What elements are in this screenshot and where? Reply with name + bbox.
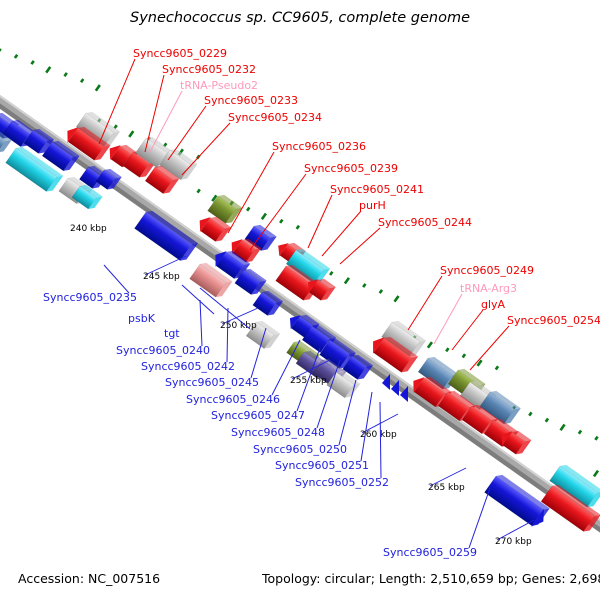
gc-tick [344,277,350,284]
gc-tick [279,219,283,224]
gene-label-reverse[interactable]: Syncc9605_0247 [211,409,305,422]
gene-label-reverse[interactable]: Syncc9605_0246 [186,393,280,406]
gc-tick [445,347,449,352]
gene-label-forward[interactable]: Syncc9605_0249 [440,264,534,277]
label-leader-line [361,392,372,461]
gene-label-forward[interactable]: Syncc9605_0241 [330,183,424,196]
gene-label-layer[interactable]: Syncc9605_0229Syncc9605_0232Syncc9605_02… [43,47,600,559]
gene-label-reverse[interactable]: Syncc9605_0235 [43,291,137,304]
label-leader-line [182,123,230,175]
label-leader-line [168,106,206,160]
label-leader-line [380,402,381,478]
gc-tick [476,359,482,366]
gc-tick [196,189,200,194]
gene-label-forward[interactable]: Syncc9605_0236 [272,140,366,153]
gc-tick [559,424,565,431]
gene-label-forward[interactable]: Syncc9605_0239 [304,162,398,175]
genome-stats-text: Topology: circular; Length: 2,510,659 bp… [261,571,600,586]
gene-label-forward[interactable]: Syncc9605_0244 [378,216,472,229]
gc-tick [528,412,532,417]
gc-tick [45,66,51,73]
label-leader-line [228,152,274,233]
gc-tick [63,72,67,77]
gene-label-reverse[interactable]: tgt [164,327,180,340]
scale-tick-label: 245 kbp [143,272,180,282]
gene-label-reverse[interactable]: Syncc9605_0250 [253,443,347,456]
gc-tick [462,353,466,358]
genome-map-canvas[interactable]: Synechococcus sp. CC9605, complete genom… [0,0,600,600]
gc-tick [545,418,549,423]
gc-tick [427,341,433,348]
scale-tick-label: 270 kbp [495,537,532,547]
label-leader-line [150,91,182,152]
accession-text: Accession: NC_007516 [18,571,160,586]
gene-label-reverse[interactable]: Syncc9605_0251 [275,459,369,472]
gene-label-reverse[interactable]: Syncc9605_0252 [295,476,389,489]
gc-tick [329,271,333,276]
gc-tick [261,213,267,220]
gene-label-forward[interactable]: Syncc9605_0254 [507,314,600,327]
label-leader-line [340,228,380,264]
gc-tick [95,84,101,91]
gene-label-forward[interactable]: glyA [481,298,506,311]
gene-label-rna[interactable]: tRNA-Pseudo2 [180,79,258,92]
gene-label-reverse[interactable]: Syncc9605_0259 [383,546,477,559]
gc-tick [362,283,366,288]
gene-label-reverse[interactable]: Syncc9605_0242 [141,360,235,373]
gene-label-reverse[interactable]: Syncc9605_0245 [165,376,259,389]
label-leader-line [322,211,361,256]
page-title: Synechococcus sp. CC9605, complete genom… [130,10,470,26]
label-leader-line [250,174,306,250]
gc-tick [14,54,18,59]
label-leader-line [104,265,129,293]
gene-label-forward[interactable]: Syncc9605_0229 [133,47,227,60]
gc-tick [30,60,34,65]
gene-label-forward[interactable]: Syncc9605_0233 [204,94,298,107]
gene-label-forward[interactable]: Syncc9605_0232 [162,63,256,76]
scale-tick-label: 240 kbp [70,224,107,234]
gc-tick [594,436,598,441]
gene-label-forward[interactable]: purH [359,199,386,212]
label-leader-line [272,340,300,395]
gc-tick [593,470,599,477]
label-leader-line [227,308,228,362]
gc-tick [495,366,499,371]
gene-label-reverse[interactable]: Syncc9605_0240 [116,344,210,357]
label-leader-line [434,294,462,344]
genome-map-viewer: Synechococcus sp. CC9605, complete genom… [0,0,600,600]
scale-tick-label: 265 kbp [428,483,465,493]
gene-label-reverse[interactable]: Syncc9605_0248 [231,426,325,439]
gc-tick [246,207,250,212]
label-leader-line [308,195,332,248]
gene-label-forward[interactable]: Syncc9605_0234 [228,111,322,124]
gc-tick [296,225,300,230]
gene-label-reverse[interactable]: psbK [128,312,156,325]
label-leader-line [408,276,442,330]
label-leader-line [469,488,490,548]
label-leader-line [470,326,509,370]
label-leader-line [200,300,202,346]
gene-label-rna[interactable]: tRNA-Arg3 [460,282,517,295]
gc-tick [0,48,2,55]
gc-tick [80,78,84,83]
scale-tick-label: 250 kbp [220,321,257,331]
gc-tick [393,295,399,302]
label-leader-line [452,310,483,350]
gc-tick [379,289,383,294]
gc-tick [578,430,582,435]
gc-tick [128,130,134,137]
